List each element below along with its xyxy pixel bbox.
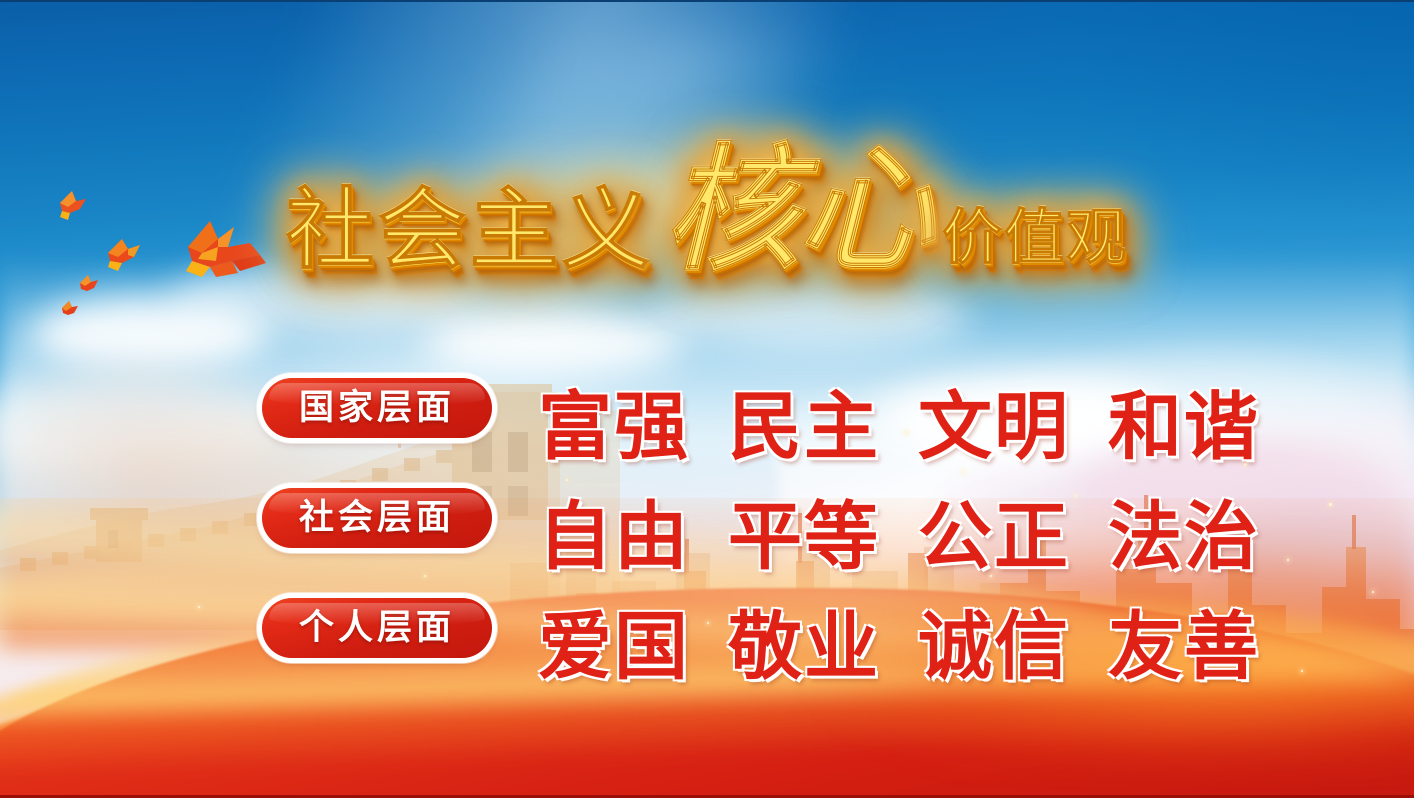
value-word: 和谐 — [1108, 390, 1260, 464]
top-edge — [0, 0, 1414, 2]
value-word: 爱国 — [538, 610, 690, 684]
value-word: 富强 — [538, 390, 690, 464]
value-row: 社会层面 自由 平等 公正 法治 — [0, 482, 1414, 592]
flying-doves-icon — [40, 185, 290, 330]
value-word: 诚信 — [918, 610, 1070, 684]
value-word: 民主 — [728, 390, 880, 464]
value-list: 爱国 敬业 诚信 友善 — [538, 592, 1260, 702]
value-word: 平等 — [728, 500, 880, 574]
level-badge-social[interactable]: 社会层面 — [262, 488, 492, 548]
value-list: 自由 平等 公正 法治 — [538, 482, 1260, 592]
badge-label: 国家层面 — [299, 391, 455, 426]
value-rows: 国家层面 富强 民主 文明 和谐 社会层面 自由 平等 公正 法治 — [0, 372, 1414, 702]
level-badge-personal[interactable]: 个人层面 — [262, 598, 492, 658]
value-word: 自由 — [538, 500, 690, 574]
value-word: 文明 — [918, 390, 1070, 464]
value-word: 友善 — [1108, 610, 1260, 684]
level-badge-national[interactable]: 国家层面 — [262, 378, 492, 438]
value-row: 个人层面 爱国 敬业 诚信 友善 — [0, 592, 1414, 702]
value-word: 公正 — [918, 500, 1070, 574]
badge-label: 个人层面 — [299, 611, 455, 646]
value-list: 富强 民主 文明 和谐 — [538, 372, 1260, 482]
badge-label: 社会层面 — [299, 501, 455, 536]
value-word: 法治 — [1108, 500, 1260, 574]
value-row: 国家层面 富强 民主 文明 和谐 — [0, 372, 1414, 482]
value-word: 敬业 — [728, 610, 880, 684]
poster-canvas: 社会主义 核心 价值观 国家层面 富强 民主 文明 和谐 社会层面 — [0, 0, 1414, 798]
